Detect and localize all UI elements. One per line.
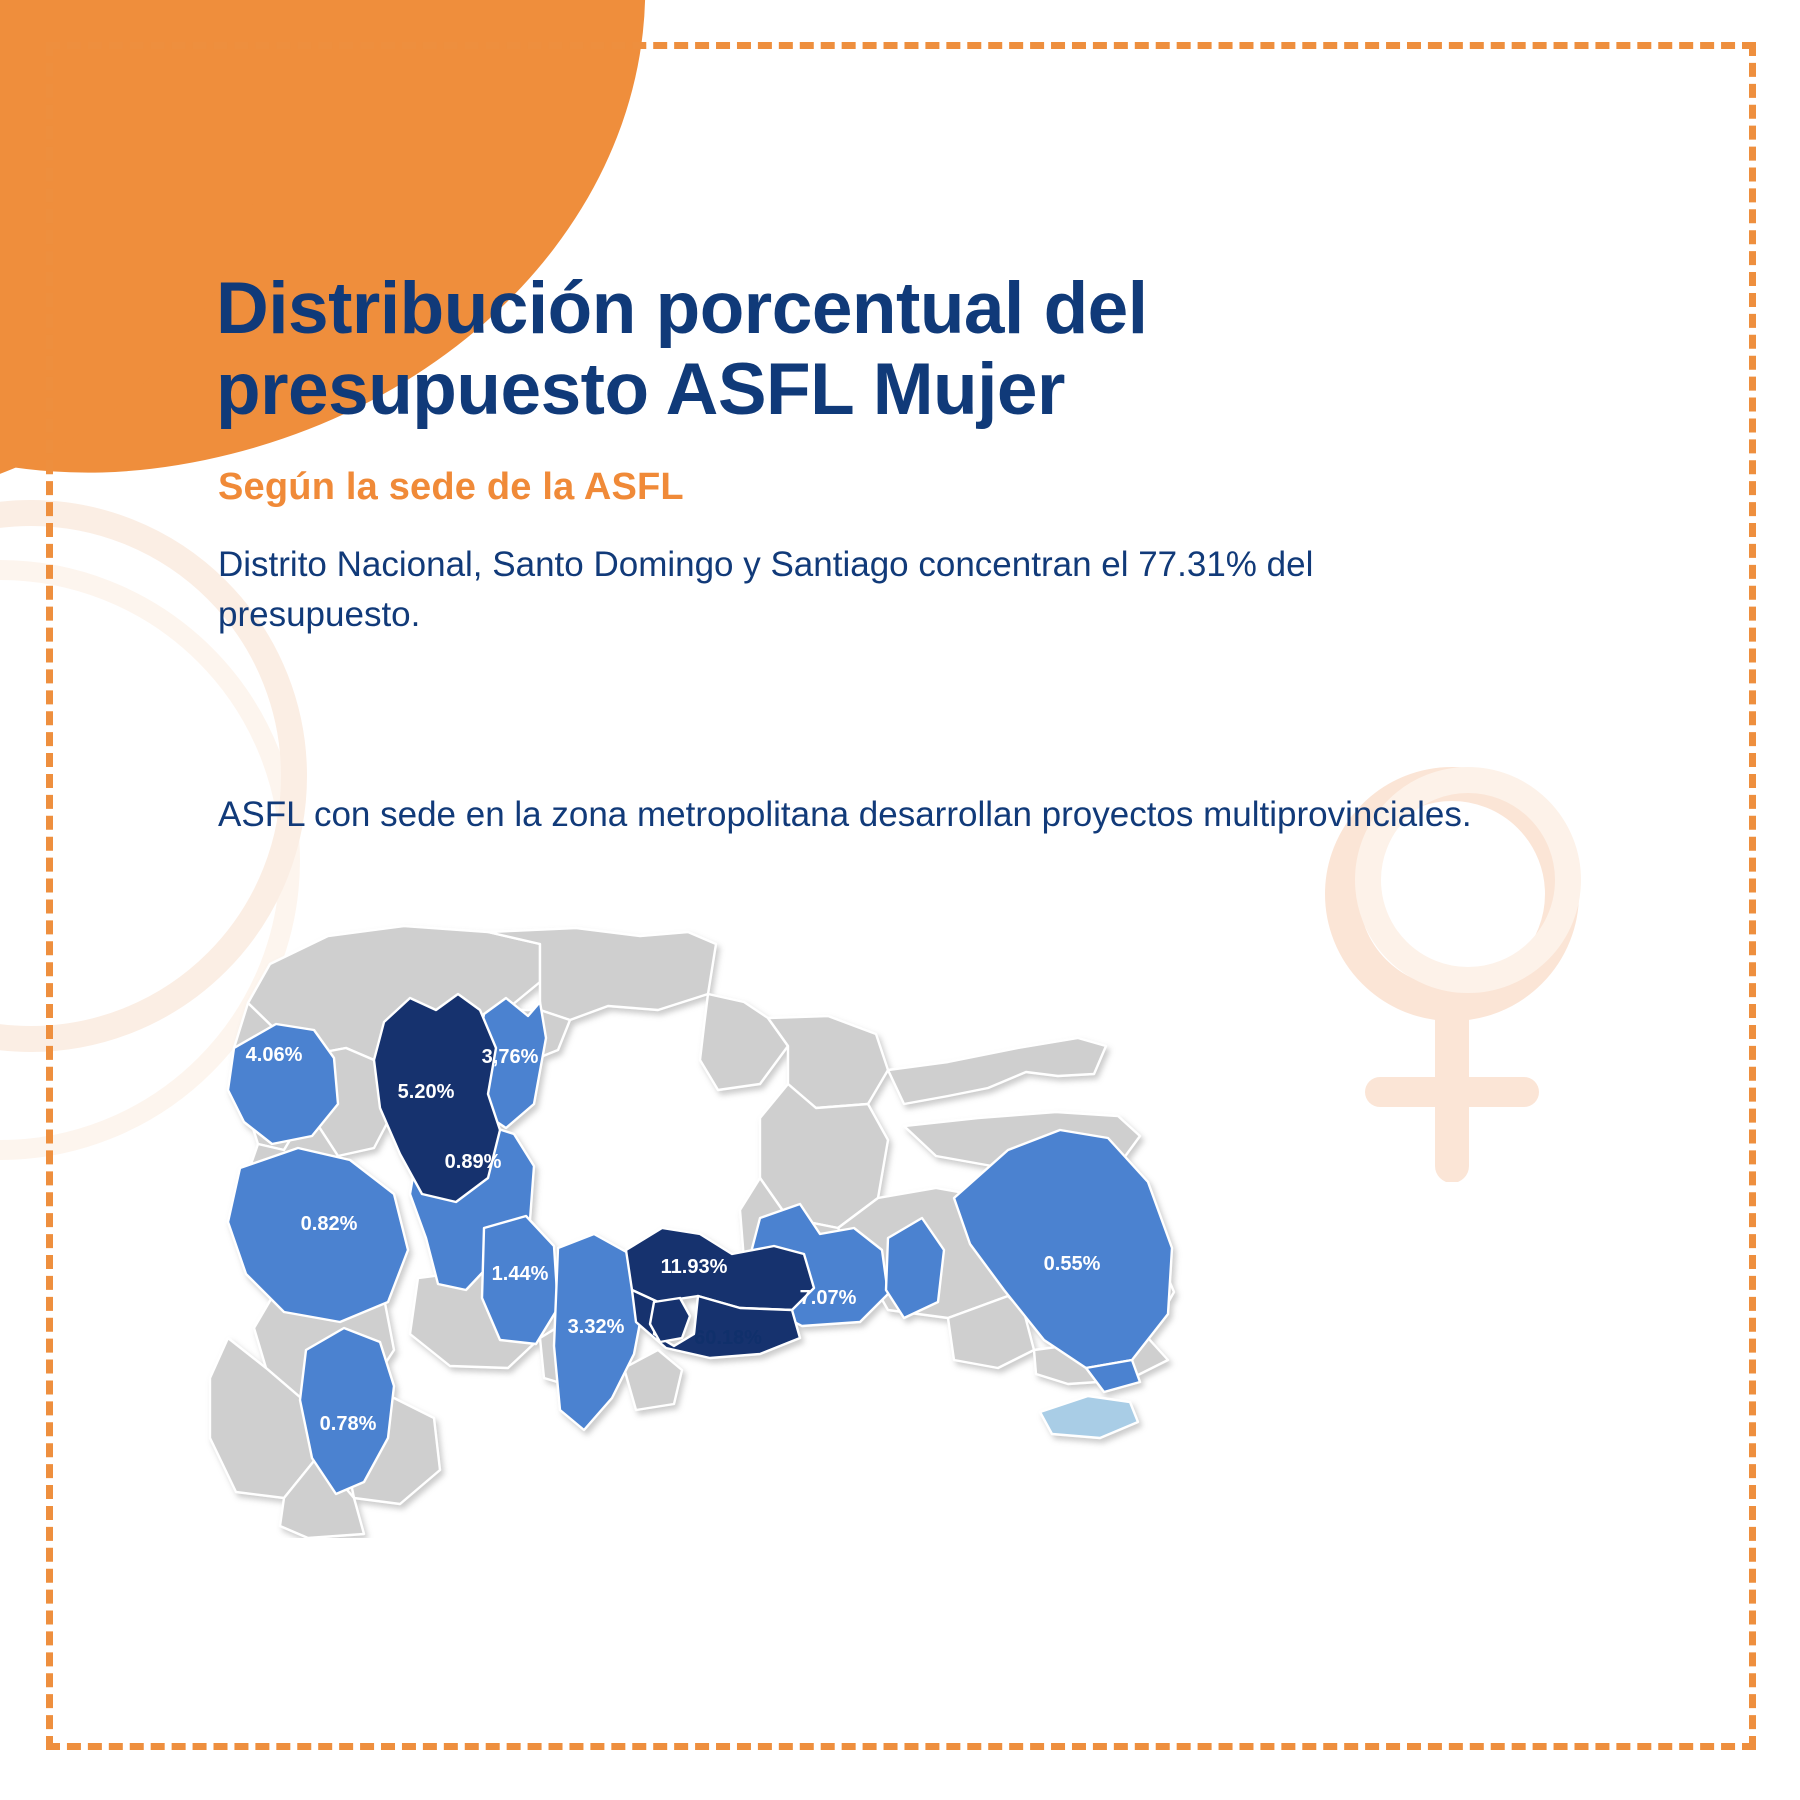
map-label-distrito-nacional: 11.93% xyxy=(661,1256,728,1278)
map-label-valverde: 4.06% xyxy=(246,1044,303,1066)
page-subtitle: Según la sede de la ASFL xyxy=(218,466,684,509)
map-label-santo-domingo: 60.18% xyxy=(694,1327,762,1349)
map-lagoon xyxy=(1040,1396,1138,1438)
map-label-la-altagracia: 7.07% xyxy=(800,1287,857,1309)
map-label-espaillat: 3,76% xyxy=(482,1046,539,1068)
infographic-canvas: Distribución porcentual del presupuesto … xyxy=(0,0,1800,1800)
map-label-san-juan: 0.82% xyxy=(301,1213,358,1235)
dominican-republic-choropleth-map: 4.06% 5.20% 3,76% 0.89% 0.82% 1.44% 3.32… xyxy=(188,898,1218,1538)
page-title: Distribución porcentual del presupuesto … xyxy=(216,268,1516,430)
map-label-santiago: 5.20% xyxy=(398,1081,455,1103)
paragraph-highlight: Distrito Nacional, Santo Domingo y Santi… xyxy=(218,540,1478,641)
paragraph-note: ASFL con sede en la zona metropolitana d… xyxy=(218,790,1478,840)
map-label-la-romana: 0.55% xyxy=(1044,1253,1101,1275)
map-label-peravia: 1.44% xyxy=(492,1263,549,1285)
map-label-san-cristobal: 3.32% xyxy=(568,1316,625,1338)
map-label-la-vega: 0.89% xyxy=(445,1151,502,1173)
map-label-barahona: 0.78% xyxy=(320,1413,377,1435)
